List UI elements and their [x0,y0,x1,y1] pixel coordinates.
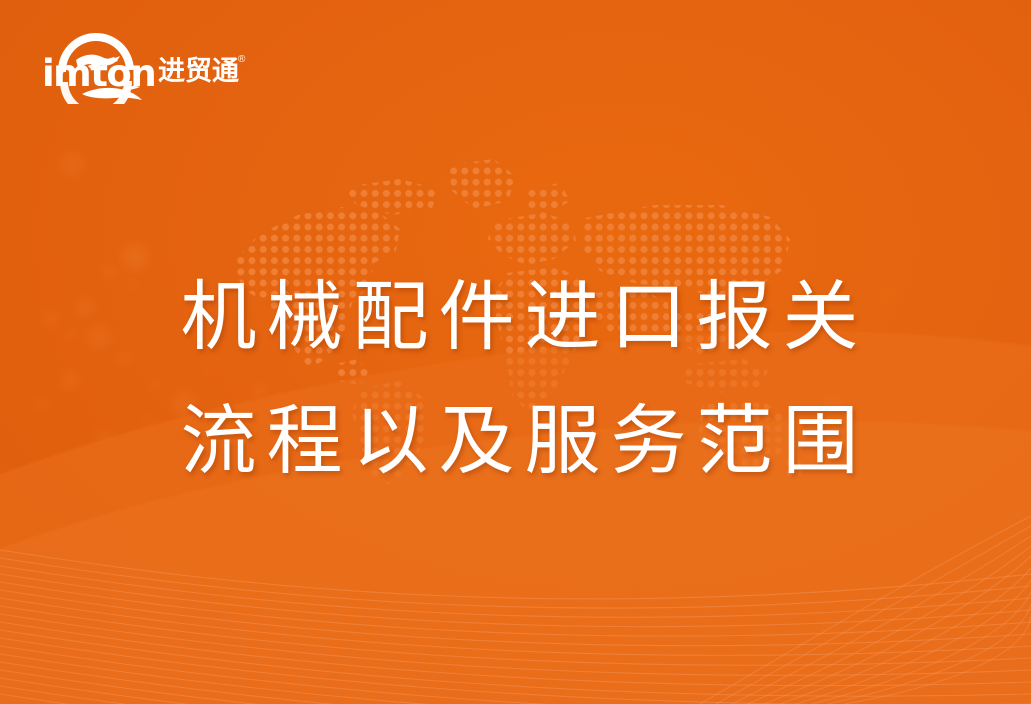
title-line-1: 机械配件进口报关 [18,255,1031,379]
title-line-2: 流程以及服务范围 [18,379,1031,503]
page-title: 机械配件进口报关 流程以及服务范围 [0,255,1031,503]
registered-trademark-icon: ® [238,54,245,65]
logo-chinese-text: 进贸通 [158,58,239,85]
logo-latin-text: imton [42,55,155,92]
poster-canvas: imton 进贸通 ® 机械配件进口报关 流程以及服务范围 [0,0,1031,704]
imton-logo[interactable]: imton 进贸通 ® [36,26,214,104]
